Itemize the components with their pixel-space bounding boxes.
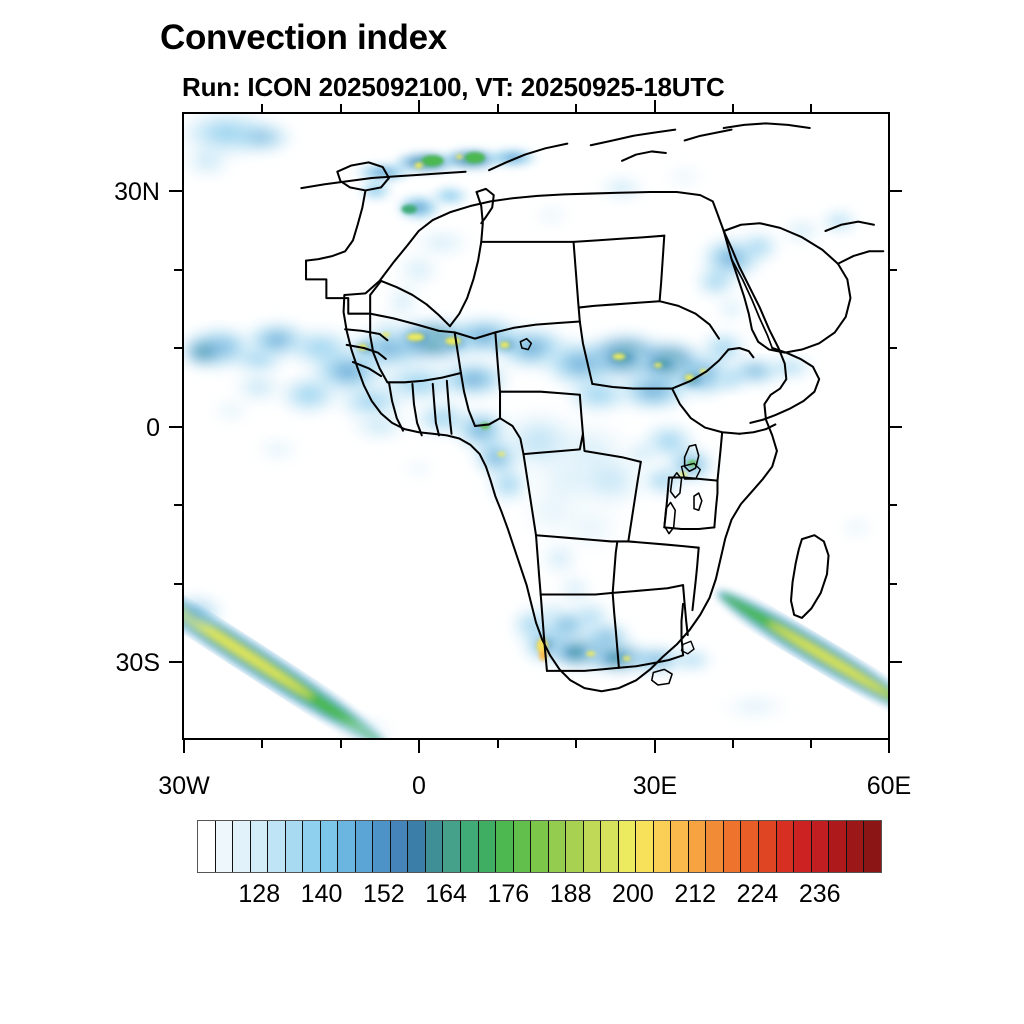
- colorbar-segment-28: [689, 821, 707, 872]
- y-tick-0: [169, 426, 182, 428]
- y-tick-30n: [169, 190, 182, 192]
- y-tick-30s: [169, 661, 182, 663]
- colorbar-segment-6: [303, 821, 321, 872]
- y-minortick-right-10n: [889, 347, 897, 349]
- x-tick-0: [418, 740, 420, 753]
- colorbar-segment-27: [671, 821, 689, 872]
- colorbar-segment-37: [847, 821, 865, 872]
- figure-subtitle: Run: ICON 2025092100, VT: 20250925-18UTC: [182, 72, 725, 103]
- colorbar-tick-128: 128: [238, 880, 280, 909]
- x-minortick-top-40e: [732, 104, 734, 112]
- y-minortick-right-10s: [889, 504, 897, 506]
- colorbar-tick-212: 212: [674, 880, 716, 909]
- colorbar-segment-32: [759, 821, 777, 872]
- colorbar-segment-9: [356, 821, 374, 872]
- y-minortick-20n: [174, 269, 182, 271]
- y-tick-right-30s: [889, 661, 902, 663]
- colorbar-segment-19: [531, 821, 549, 872]
- x-axis-label-60e: 60E: [829, 772, 949, 801]
- x-minortick-10w: [340, 740, 342, 748]
- y-axis-label-0: 0: [40, 414, 160, 443]
- colorbar-segment-10: [373, 821, 391, 872]
- colorbar-segment-4: [268, 821, 286, 872]
- colorbar-segment-30: [724, 821, 742, 872]
- colorbar-segment-0: [198, 821, 216, 872]
- colorbar-segment-25: [636, 821, 654, 872]
- colorbar-segment-23: [601, 821, 619, 872]
- colorbar-segment-20: [549, 821, 567, 872]
- x-minortick-top-20w: [261, 104, 263, 112]
- colorbar-segment-35: [812, 821, 830, 872]
- x-minortick-40e: [732, 740, 734, 748]
- x-minortick-top-20e: [575, 104, 577, 112]
- colorbar-segment-7: [321, 821, 339, 872]
- x-tick-60e: [888, 740, 890, 753]
- colorbar-tick-152: 152: [363, 880, 405, 909]
- x-tick-top-0: [418, 100, 420, 113]
- colorbar-tick-200: 200: [612, 880, 654, 909]
- y-minortick-10s: [174, 504, 182, 506]
- colorbar-segment-11: [391, 821, 409, 872]
- map-canvas: [184, 114, 888, 738]
- x-minortick-top-10e: [497, 104, 499, 112]
- colorbar-tick-188: 188: [550, 880, 592, 909]
- convection-field: [184, 114, 888, 738]
- x-axis-label-30e: 30E: [595, 772, 715, 801]
- x-tick-30w: [183, 740, 185, 753]
- y-axis-label-30s: 30S: [40, 649, 160, 678]
- x-minortick-20e: [575, 740, 577, 748]
- y-minortick-10n: [174, 347, 182, 349]
- colorbar-segment-15: [461, 821, 479, 872]
- colorbar-segment-16: [479, 821, 497, 872]
- x-minortick-top-10w: [340, 104, 342, 112]
- colorbar-segment-17: [496, 821, 514, 872]
- colorbar: [197, 820, 882, 873]
- colorbar-segment-33: [777, 821, 795, 872]
- y-tick-right-30n: [889, 190, 902, 192]
- x-axis-label-0: 0: [359, 772, 479, 801]
- y-minortick-right-20n: [889, 269, 897, 271]
- colorbar-segment-3: [251, 821, 269, 872]
- page-title: Convection index: [160, 18, 447, 58]
- y-minortick-20s: [174, 583, 182, 585]
- y-tick-right-0: [889, 426, 902, 428]
- colorbar-segment-31: [741, 821, 759, 872]
- colorbar-segment-12: [408, 821, 426, 872]
- colorbar-tick-176: 176: [488, 880, 530, 909]
- x-minortick-top-50e: [810, 104, 812, 112]
- colorbar-tick-236: 236: [799, 880, 841, 909]
- colorbar-segment-29: [706, 821, 724, 872]
- x-tick-top-30e: [654, 100, 656, 113]
- colorbar-segment-1: [216, 821, 234, 872]
- y-minortick-right-20s: [889, 583, 897, 585]
- x-minortick-10e: [497, 740, 499, 748]
- colorbar-tick-164: 164: [425, 880, 467, 909]
- map-svg: [184, 114, 888, 738]
- colorbar-segment-8: [338, 821, 356, 872]
- x-minortick-20w: [261, 740, 263, 748]
- colorbar-segment-36: [829, 821, 847, 872]
- x-minortick-50e: [810, 740, 812, 748]
- colorbar-segment-13: [426, 821, 444, 872]
- x-axis-label-30w: 30W: [124, 772, 244, 801]
- colorbar-segment-26: [654, 821, 672, 872]
- colorbar-segment-2: [233, 821, 251, 872]
- colorbar-segment-18: [514, 821, 532, 872]
- colorbar-segment-38: [864, 821, 881, 872]
- colorbar-segment-21: [566, 821, 584, 872]
- colorbar-segment-24: [619, 821, 637, 872]
- colorbar-tick-224: 224: [737, 880, 779, 909]
- colorbar-segment-34: [794, 821, 812, 872]
- figure-root: Convection index Run: ICON 2025092100, V…: [0, 0, 1024, 1024]
- colorbar-tick-labels: 128140152164176188200212224236: [197, 880, 882, 914]
- y-axis-label-30n: 30N: [40, 178, 160, 207]
- colorbar-tick-140: 140: [301, 880, 343, 909]
- colorbar-segment-22: [584, 821, 602, 872]
- map-plot-area: [182, 112, 890, 740]
- colorbar-segment-14: [443, 821, 461, 872]
- colorbar-segment-5: [286, 821, 304, 872]
- x-tick-30e: [654, 740, 656, 753]
